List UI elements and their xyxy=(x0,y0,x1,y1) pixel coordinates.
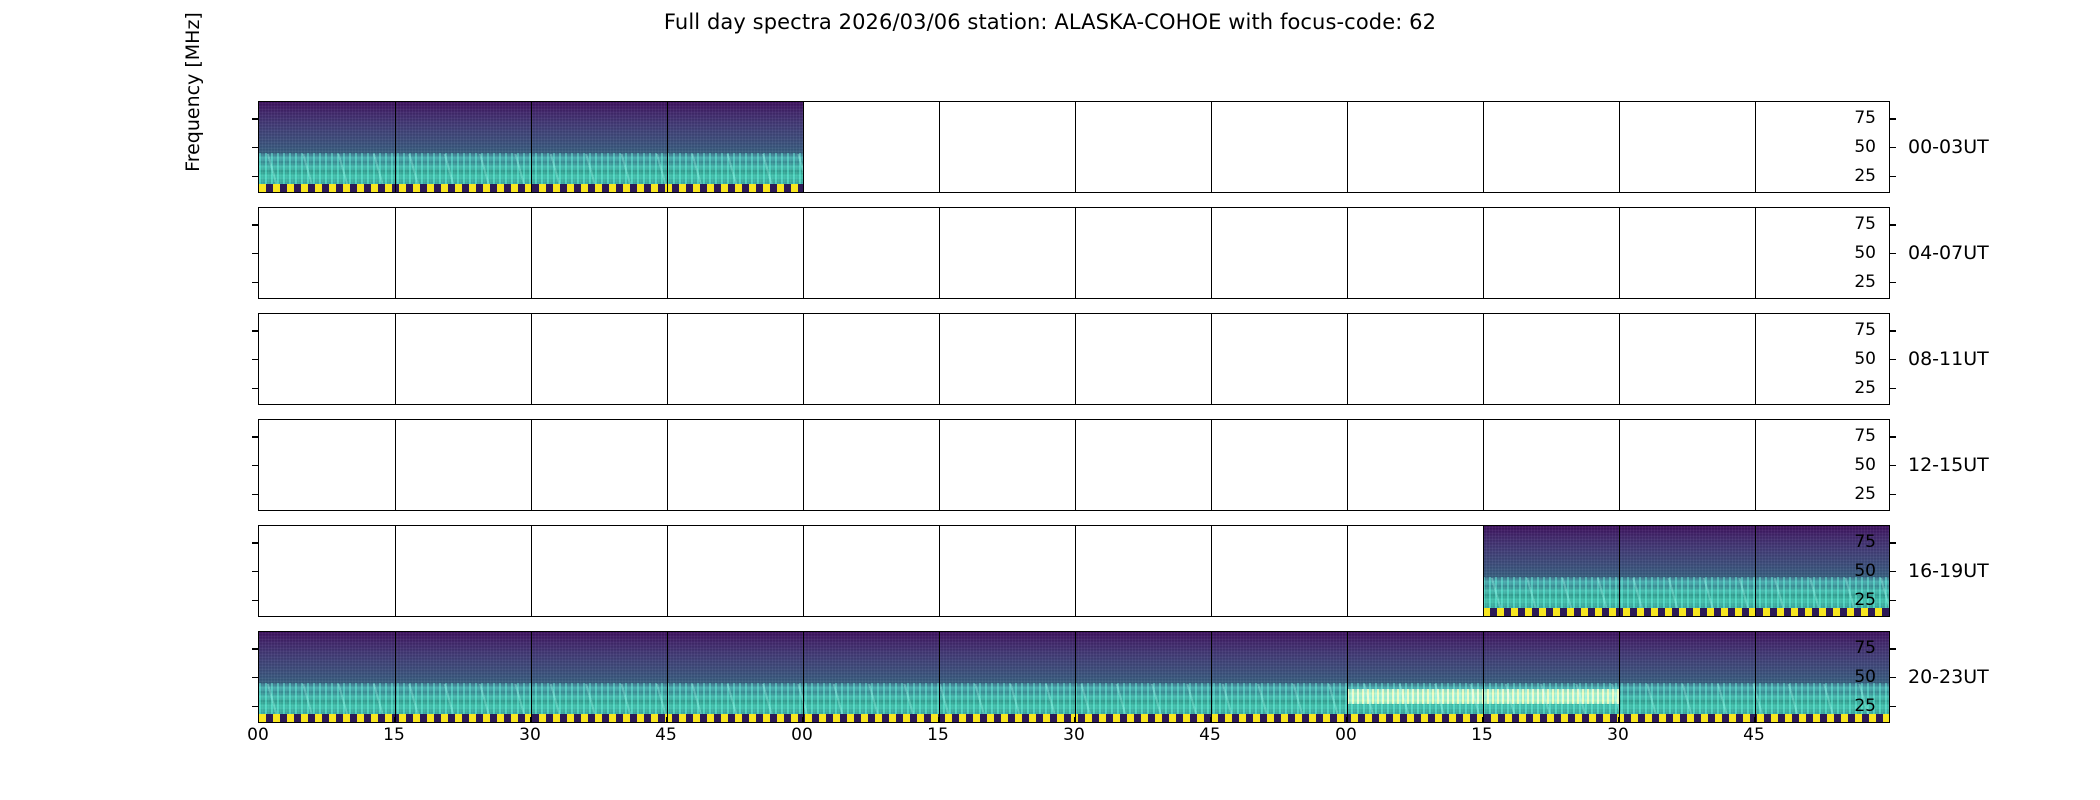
y-axis-label-text: Frequency [MHz] xyxy=(182,12,204,172)
segment-separator xyxy=(939,632,940,722)
segment-separator xyxy=(395,208,396,298)
segment-separator xyxy=(803,208,804,298)
segment-separator xyxy=(531,208,532,298)
segment-separator xyxy=(1619,632,1620,722)
row-time-label: 12-15UT xyxy=(1908,454,1989,476)
y-tick-label: 75 xyxy=(1854,638,1876,658)
segment-separator xyxy=(667,102,668,192)
segment-separator xyxy=(803,420,804,510)
segment-separator xyxy=(1211,526,1212,616)
segment-separator xyxy=(1075,420,1076,510)
y-tick-label: 25 xyxy=(1854,378,1876,398)
y-tick-label: 25 xyxy=(1854,590,1876,610)
spectrogram-row[interactable]: 75502500-03UT xyxy=(258,101,1890,193)
segment-separator xyxy=(1347,420,1348,510)
y-tick-mark xyxy=(252,571,258,572)
spectrogram-sweeps-layer xyxy=(1483,578,1890,609)
y-tick-mark xyxy=(252,465,258,466)
segment-separator xyxy=(1755,632,1756,722)
segment-separator xyxy=(1347,208,1348,298)
y-tick-label: 25 xyxy=(1854,166,1876,186)
segment-separator xyxy=(1483,420,1484,510)
segment-separator xyxy=(803,632,804,722)
x-tick-mark xyxy=(530,717,531,723)
segment-separator xyxy=(1755,526,1756,616)
y-tick-label: 50 xyxy=(1854,455,1876,475)
y-tick-mark xyxy=(1890,465,1896,466)
segment-separator xyxy=(1075,632,1076,722)
y-tick-mark xyxy=(1890,359,1896,360)
row-time-label: 00-03UT xyxy=(1908,136,1989,158)
row-time-label: 04-07UT xyxy=(1908,242,1989,264)
y-tick-mark xyxy=(252,282,258,283)
segment-separator xyxy=(1755,314,1756,404)
segment-separator xyxy=(667,208,668,298)
segment-separator xyxy=(395,632,396,722)
spectrogram-panel[interactable] xyxy=(258,631,1890,723)
y-tick-label: 50 xyxy=(1854,243,1876,263)
segment-separator xyxy=(395,102,396,192)
x-tick-mark xyxy=(938,717,939,723)
segment-separator xyxy=(667,526,668,616)
segment-separator xyxy=(667,314,668,404)
segment-separator xyxy=(1347,314,1348,404)
segment-separator xyxy=(1211,632,1212,722)
spectrogram-data xyxy=(1483,526,1890,616)
page-title: Full day spectra 2026/03/06 station: ALA… xyxy=(0,10,2100,34)
y-tick-label: 25 xyxy=(1854,272,1876,292)
row-time-label: 20-23UT xyxy=(1908,666,1989,688)
x-tick-mark xyxy=(1210,717,1211,723)
x-tick-label: 15 xyxy=(383,725,405,745)
y-tick-label: 75 xyxy=(1854,426,1876,446)
spectrogram-row[interactable]: 75502520-23UT xyxy=(258,631,1890,723)
y-tick-mark xyxy=(252,330,258,331)
y-tick-label: 50 xyxy=(1854,561,1876,581)
y-tick-mark xyxy=(252,600,258,601)
segment-separator xyxy=(1075,102,1076,192)
y-tick-mark xyxy=(1890,224,1896,225)
y-tick-mark xyxy=(1890,388,1896,389)
segment-separator xyxy=(939,314,940,404)
y-tick-mark xyxy=(252,436,258,437)
x-tick-label: 15 xyxy=(1471,725,1493,745)
x-tick-label: 00 xyxy=(247,725,269,745)
segment-separator xyxy=(395,526,396,616)
x-tick-label: 30 xyxy=(519,725,541,745)
segment-separator xyxy=(531,526,532,616)
y-tick-mark xyxy=(1890,600,1896,601)
segment-separator xyxy=(1075,526,1076,616)
segment-separator xyxy=(803,526,804,616)
segment-separator xyxy=(939,208,940,298)
x-tick-label: 00 xyxy=(791,725,813,745)
y-tick-mark xyxy=(1890,677,1896,678)
segment-separator xyxy=(939,420,940,510)
x-tick-label: 30 xyxy=(1063,725,1085,745)
y-tick-mark xyxy=(1890,330,1896,331)
y-axis-label: Frequency [MHz] xyxy=(182,0,204,222)
y-tick-label: 75 xyxy=(1854,214,1876,234)
x-tick-mark xyxy=(1618,717,1619,723)
x-tick-mark xyxy=(1346,717,1347,723)
x-tick-label: 30 xyxy=(1607,725,1629,745)
segment-separator xyxy=(1347,632,1348,722)
segment-separator xyxy=(667,420,668,510)
y-tick-mark xyxy=(252,118,258,119)
row-time-label: 08-11UT xyxy=(1908,348,1989,370)
segment-separator xyxy=(803,314,804,404)
y-tick-label: 75 xyxy=(1854,320,1876,340)
y-tick-mark xyxy=(252,147,258,148)
x-tick-label: 45 xyxy=(1743,725,1765,745)
spectrogram-panel[interactable] xyxy=(258,207,1890,299)
segment-separator xyxy=(1483,526,1484,616)
segment-separator xyxy=(1347,526,1348,616)
x-tick-label: 45 xyxy=(655,725,677,745)
y-tick-label: 25 xyxy=(1854,696,1876,716)
y-tick-mark xyxy=(1890,282,1896,283)
x-tick-label: 00 xyxy=(1335,725,1357,745)
segment-separator xyxy=(1619,314,1620,404)
y-tick-mark xyxy=(1890,542,1896,543)
segment-separator xyxy=(531,102,532,192)
segment-separator xyxy=(939,102,940,192)
x-tick-mark xyxy=(666,717,667,723)
segment-separator xyxy=(1483,314,1484,404)
segment-separator xyxy=(395,420,396,510)
x-tick-mark xyxy=(1754,717,1755,723)
segment-separator xyxy=(1755,208,1756,298)
segment-separator xyxy=(667,632,668,722)
segment-separator xyxy=(1483,102,1484,192)
spectrogram-panel[interactable] xyxy=(258,419,1890,511)
y-tick-mark xyxy=(252,253,258,254)
segment-separator xyxy=(1483,632,1484,722)
segment-separator xyxy=(1755,420,1756,510)
spectrogram-panel[interactable] xyxy=(258,525,1890,617)
segment-separator xyxy=(1211,208,1212,298)
segment-separator xyxy=(1211,420,1212,510)
y-tick-mark xyxy=(1890,648,1896,649)
y-tick-mark xyxy=(1890,436,1896,437)
x-tick-mark xyxy=(394,717,395,723)
segment-separator xyxy=(1075,208,1076,298)
segment-separator xyxy=(1619,420,1620,510)
y-tick-label: 50 xyxy=(1854,349,1876,369)
y-tick-mark xyxy=(1890,147,1896,148)
y-tick-label: 50 xyxy=(1854,667,1876,687)
segment-separator xyxy=(803,102,804,192)
y-tick-label: 75 xyxy=(1854,108,1876,128)
row-time-label: 16-19UT xyxy=(1908,560,1989,582)
x-tick-mark xyxy=(258,717,259,723)
x-tick-mark xyxy=(802,717,803,723)
spectrogram-panel[interactable] xyxy=(258,313,1890,405)
x-tick-mark xyxy=(1482,717,1483,723)
y-tick-mark xyxy=(1890,176,1896,177)
spectrogram-row[interactable]: 75502512-15UT xyxy=(258,419,1890,511)
x-tick-label: 45 xyxy=(1199,725,1221,745)
y-tick-mark xyxy=(252,494,258,495)
segment-separator xyxy=(1619,526,1620,616)
y-tick-label: 25 xyxy=(1854,484,1876,504)
y-tick-mark xyxy=(252,388,258,389)
y-tick-label: 75 xyxy=(1854,532,1876,552)
segment-separator xyxy=(531,632,532,722)
time-marker-strip xyxy=(1483,608,1890,616)
segment-separator xyxy=(1483,208,1484,298)
segment-separator xyxy=(395,314,396,404)
segment-separator xyxy=(1619,208,1620,298)
y-tick-mark xyxy=(1890,118,1896,119)
segment-separator xyxy=(1619,102,1620,192)
segment-separator xyxy=(1347,102,1348,192)
x-tick-mark xyxy=(1074,717,1075,723)
y-tick-mark xyxy=(252,359,258,360)
spectrogram-panel[interactable] xyxy=(258,101,1890,193)
y-tick-mark xyxy=(252,677,258,678)
y-tick-mark xyxy=(1890,253,1896,254)
y-tick-mark xyxy=(252,176,258,177)
segment-separator xyxy=(531,314,532,404)
y-tick-mark xyxy=(252,706,258,707)
segment-separator xyxy=(1211,314,1212,404)
y-tick-label: 50 xyxy=(1854,137,1876,157)
spectrogram-row[interactable]: 75502504-07UT xyxy=(258,207,1890,299)
segment-separator xyxy=(1755,102,1756,192)
x-axis: 001530450015304500153045 xyxy=(258,723,1890,763)
segment-separator xyxy=(939,526,940,616)
spectrogram-figure: Full day spectra 2026/03/06 station: ALA… xyxy=(0,0,2100,800)
segment-separator xyxy=(1211,102,1212,192)
segment-separator xyxy=(1075,314,1076,404)
y-tick-mark xyxy=(1890,571,1896,572)
y-tick-mark xyxy=(252,224,258,225)
segment-separator xyxy=(531,420,532,510)
y-tick-mark xyxy=(1890,494,1896,495)
x-tick-label: 15 xyxy=(927,725,949,745)
spectrogram-row[interactable]: 75502508-11UT xyxy=(258,313,1890,405)
y-tick-mark xyxy=(252,542,258,543)
y-tick-mark xyxy=(1890,706,1896,707)
spectrogram-row[interactable]: 75502516-19UT xyxy=(258,525,1890,617)
y-tick-mark xyxy=(252,648,258,649)
